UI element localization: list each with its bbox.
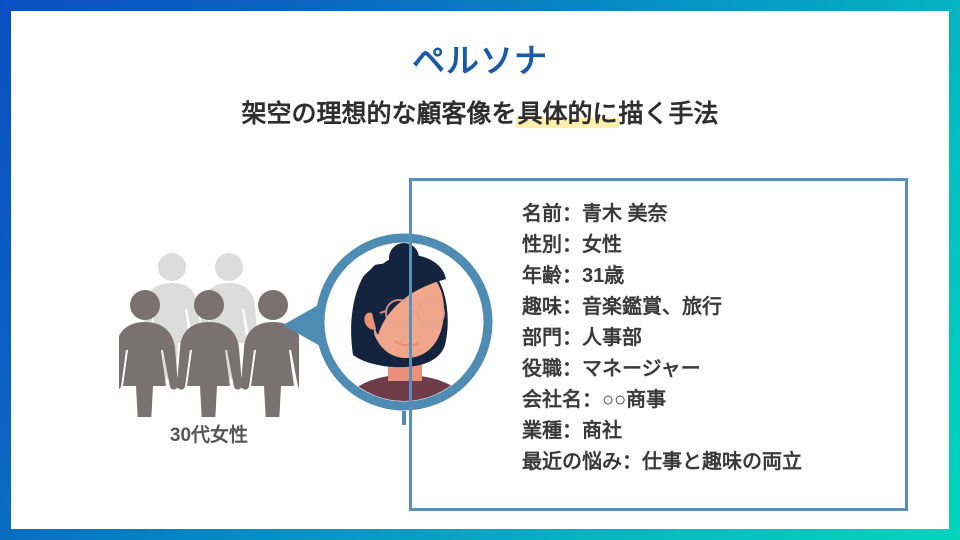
slide-canvas: ペルソナ 架空の理想的な顧客像を具体的に描く手法 <box>11 11 949 529</box>
info-line-age: 年齢：31歳 <box>522 261 922 292</box>
subtitle-part-before: 架空の理想的な顧客像を <box>241 100 516 128</box>
info-line-position: 役職：マネージャー <box>522 354 922 385</box>
info-line-department: 部門：人事部 <box>522 323 922 354</box>
subtitle-highlight: 具体的に <box>516 100 618 128</box>
page-title: ペルソナ <box>11 43 949 79</box>
info-line-gender: 性別：女性 <box>522 230 922 261</box>
info-line-hobby: 趣味：音楽鑑賞、旅行 <box>522 292 922 323</box>
info-line-industry: 業種：商社 <box>522 416 922 447</box>
callout-stem <box>402 411 406 425</box>
page-subtitle: 架空の理想的な顧客像を具体的に描く手法 <box>11 99 949 130</box>
subtitle-part-after: 描く手法 <box>619 100 719 128</box>
info-line-concern: 最近の悩み：仕事と趣味の両立 <box>522 447 922 478</box>
info-line-company: 会社名：○○商事 <box>522 385 922 416</box>
slide-frame: ペルソナ 架空の理想的な顧客像を具体的に描く手法 <box>0 0 960 540</box>
info-line-name: 名前：青木 美奈 <box>522 199 922 230</box>
persona-info-list: 名前：青木 美奈 性別：女性 年齢：31歳 趣味：音楽鑑賞、旅行 部門：人事部 … <box>522 199 922 478</box>
